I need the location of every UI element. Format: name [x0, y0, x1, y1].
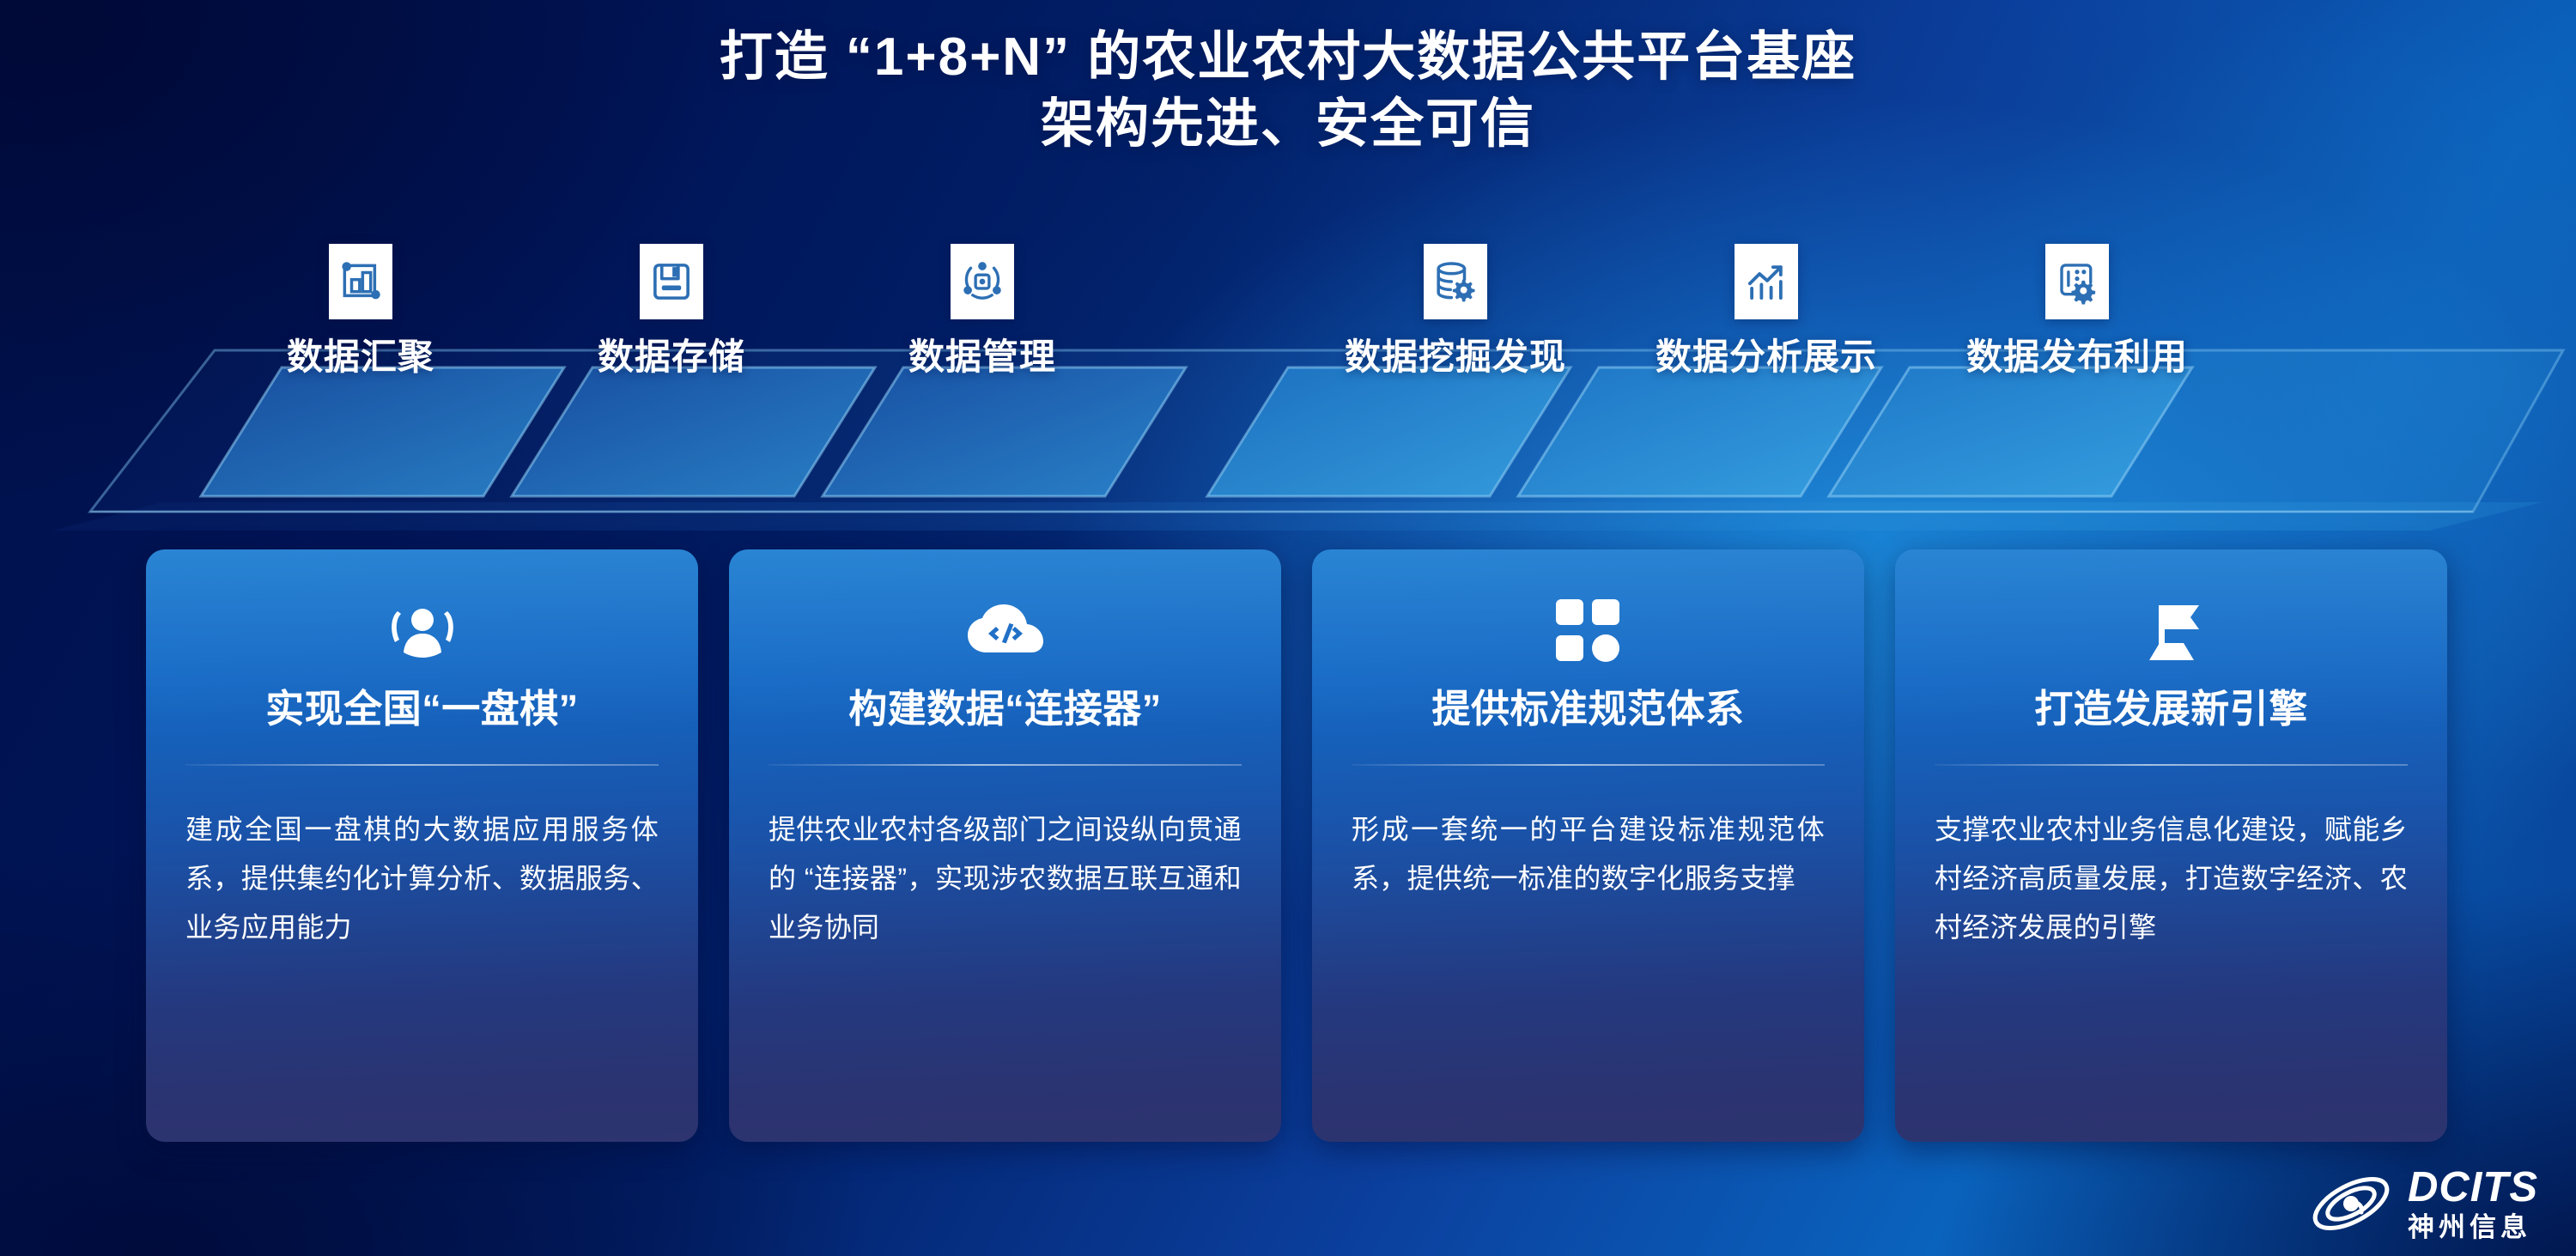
- ribbon-item-2[interactable]: 数据管理: [854, 244, 1111, 380]
- ribbon-item-1[interactable]: 数据存储: [543, 244, 800, 380]
- card-body-2: 形成一套统一的平台建设标准规范体系，提供统一标准的数字化服务支撑: [1352, 805, 1825, 903]
- floppy-disk-icon: [640, 244, 703, 319]
- ribbon-label-5: 数据发布利用: [1948, 328, 2206, 380]
- ribbon-item-5[interactable]: 数据发布利用: [1948, 244, 2206, 380]
- card-body-0: 建成全国一盘棋的大数据应用服务体系，提供集约化计算分析、数据服务、业务应用能力: [185, 805, 659, 952]
- ribbon-label-4: 数据分析展示: [1637, 328, 1895, 380]
- flag-icon: [1935, 594, 2408, 668]
- card-divider-2: [1352, 764, 1825, 766]
- title-block: 打造 “1+8+N” 的农业农村大数据公共平台基座 架构先进、安全可信: [0, 24, 2576, 158]
- logo-en-text: DCITS: [2408, 1167, 2538, 1209]
- page-title-line-1: 打造 “1+8+N” 的农业农村大数据公共平台基座: [0, 24, 2576, 91]
- network-node-icon: [951, 244, 1014, 319]
- logo-cn-text: 神州信息: [2408, 1214, 2538, 1241]
- card-body-3: 支撑农业农村业务信息化建设，赋能乡村经济高质量发展，打造数字经济、农村经济发展的…: [1935, 805, 2408, 952]
- card-title-0: 实现全国“一盘棋”: [185, 683, 659, 735]
- ribbon-item-4[interactable]: 数据分析展示: [1637, 244, 1895, 380]
- capability-ribbon: 数据汇聚 数据存储: [0, 258, 2576, 532]
- dcits-swirl-icon: [2306, 1167, 2396, 1241]
- slide-canvas: 打造 “1+8+N” 的农业农村大数据公共平台基座 架构先进、安全可信: [0, 0, 2576, 1256]
- card-0[interactable]: 实现全国“一盘棋” 建成全国一盘棋的大数据应用服务体系，提供集约化计算分析、数据…: [146, 549, 698, 1142]
- ribbon-item-3[interactable]: 数据挖掘发现: [1327, 244, 1584, 380]
- trend-chart-icon: [1735, 244, 1798, 319]
- page-title-line-2: 架构先进、安全可信: [0, 91, 2576, 158]
- card-1[interactable]: 构建数据“连接器” 提供农业农村各级部门之间设纵向贯通的 “连接器”，实现涉农数…: [729, 549, 1281, 1142]
- card-body-1: 提供农业农村各级部门之间设纵向贯通的 “连接器”，实现涉农数据互联互通和业务协同: [769, 805, 1242, 952]
- four-blocks-icon: [1352, 594, 1825, 668]
- ribbon-label-2: 数据管理: [854, 328, 1111, 380]
- card-2[interactable]: 提供标准规范体系 形成一套统一的平台建设标准规范体系，提供统一标准的数字化服务支…: [1312, 549, 1864, 1142]
- card-divider-1: [769, 764, 1242, 766]
- users-group-icon: [185, 594, 659, 668]
- database-gear-icon: [1424, 244, 1487, 319]
- ribbon-label-1: 数据存储: [543, 328, 800, 380]
- card-title-2: 提供标准规范体系: [1352, 683, 1825, 735]
- card-title-3: 打造发展新引擎: [1935, 683, 2408, 735]
- cloud-code-icon: [769, 594, 1242, 668]
- bar-chart-node-icon: [329, 244, 392, 319]
- brand-logo: DCITS 神州信息: [2306, 1167, 2538, 1241]
- card-divider-3: [1935, 764, 2408, 766]
- ribbon-item-0[interactable]: 数据汇聚: [232, 244, 489, 380]
- card-divider-0: [185, 764, 659, 766]
- ribbon-label-0: 数据汇聚: [232, 328, 489, 380]
- ribbon-label-3: 数据挖掘发现: [1327, 328, 1584, 380]
- value-cards: 实现全国“一盘棋” 建成全国一盘棋的大数据应用服务体系，提供集约化计算分析、数据…: [146, 549, 2447, 1142]
- card-title-1: 构建数据“连接器”: [769, 683, 1242, 735]
- card-3[interactable]: 打造发展新引擎 支撑农业农村业务信息化建设，赋能乡村经济高质量发展，打造数字经济…: [1895, 549, 2447, 1142]
- panel-gear-icon: [2045, 244, 2109, 319]
